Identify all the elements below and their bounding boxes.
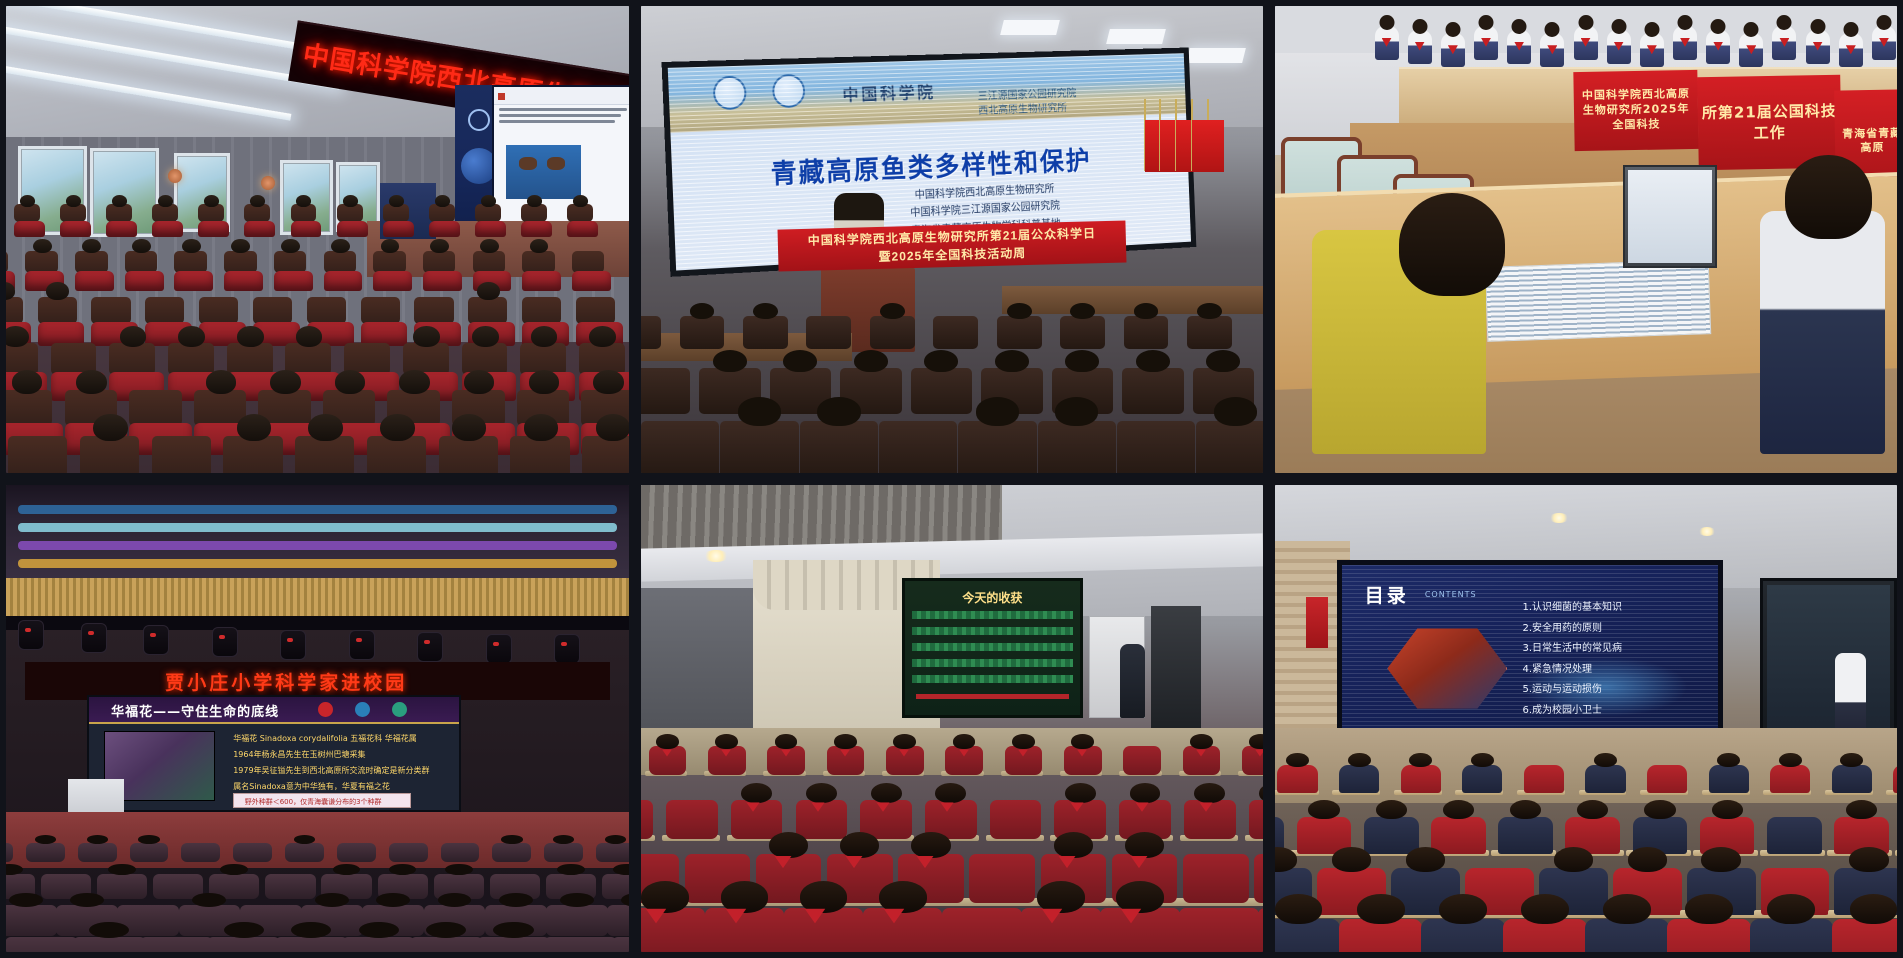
audience-head bbox=[1717, 753, 1740, 767]
seat-back bbox=[1179, 908, 1259, 952]
seat-back bbox=[73, 937, 146, 952]
seat-cushion bbox=[291, 221, 322, 237]
seat-back bbox=[6, 251, 8, 274]
stage-light bbox=[554, 634, 580, 664]
seat-back bbox=[337, 843, 376, 863]
audience-head bbox=[9, 893, 43, 907]
seat-back bbox=[641, 421, 719, 473]
seat-back bbox=[389, 843, 428, 863]
seat-cushion bbox=[423, 271, 462, 291]
audience-head bbox=[1685, 894, 1733, 924]
student-figure bbox=[1640, 33, 1664, 67]
seat-back bbox=[233, 843, 272, 863]
projected-slide: 华福花——守住生命的底线 华福花 Sinadoxa corydalifolia … bbox=[87, 695, 461, 812]
photo-1-auditorium: 中国科学院西北高原生物研究所2025年全国科技活动周和全 bbox=[6, 6, 629, 473]
audience-head bbox=[531, 326, 558, 347]
audience-head bbox=[713, 350, 747, 373]
seat-back bbox=[152, 436, 211, 473]
audience-head bbox=[76, 370, 107, 394]
slide-title: 华福花——守住生命的底线 bbox=[111, 701, 279, 720]
audience-head bbox=[753, 303, 778, 319]
seat-back bbox=[546, 905, 608, 936]
student-figure bbox=[1462, 765, 1502, 792]
seat-back bbox=[106, 204, 132, 222]
seat-back bbox=[342, 937, 415, 952]
seat-cushion bbox=[224, 271, 263, 291]
audience-head bbox=[501, 835, 522, 844]
audience-head bbox=[1554, 847, 1593, 872]
ceiling-spotlight bbox=[1698, 527, 1716, 536]
student-figure bbox=[1585, 919, 1668, 952]
toc-item: 5.运动与运动损伤 bbox=[1522, 680, 1622, 701]
seat-back bbox=[1187, 316, 1232, 349]
photo-cell-3: 中国科学院西北高原生物研究所2025年全国科技 所第21届公国科技工作 青海省青… bbox=[1269, 0, 1903, 479]
audience-head bbox=[1007, 303, 1032, 319]
audience-head bbox=[1125, 832, 1164, 858]
student-figure bbox=[1872, 26, 1896, 60]
audience-head bbox=[995, 350, 1029, 373]
audience-head bbox=[430, 239, 449, 254]
seat-back bbox=[198, 204, 224, 222]
seat-back bbox=[990, 800, 1042, 839]
audience-head bbox=[1840, 753, 1863, 767]
seat-back bbox=[285, 843, 324, 863]
slide-specimen-image bbox=[506, 145, 582, 199]
audience-head bbox=[1071, 734, 1094, 749]
seat-back bbox=[181, 843, 220, 863]
audience-head bbox=[480, 239, 499, 254]
audience-head bbox=[1577, 800, 1608, 820]
toc-item: 6.成为校园小卫士 bbox=[1522, 701, 1622, 722]
audience-head bbox=[70, 893, 104, 907]
student-figure bbox=[1839, 33, 1863, 67]
slide-bullet: 属名Sinadoxa意为中华独有，华夏有福之花 bbox=[233, 781, 390, 792]
photo-cell-4: 贾小庄小学科学家进校园 华福花——守住生命的底线 华福花 Sinadoxa co… bbox=[0, 479, 635, 958]
audience-head bbox=[573, 195, 588, 207]
seat-back bbox=[1183, 854, 1249, 903]
audience-head bbox=[806, 783, 837, 803]
audience-head bbox=[1214, 397, 1258, 426]
stage-light bbox=[81, 623, 107, 653]
audience-head bbox=[1850, 894, 1897, 924]
audience-head bbox=[834, 734, 857, 749]
student-figure bbox=[1767, 817, 1822, 854]
gold-ceiling-trim bbox=[6, 578, 629, 620]
audience-head bbox=[953, 734, 976, 749]
audience-head bbox=[1712, 800, 1743, 820]
seat-back bbox=[596, 843, 629, 863]
seat-cushion bbox=[572, 271, 611, 291]
student-figure bbox=[1431, 817, 1486, 854]
audience-head bbox=[220, 864, 248, 875]
seat-back bbox=[97, 874, 147, 899]
seat-back bbox=[423, 251, 456, 274]
photo-cell-1: 中国科学院西北高原生物研究所2025年全国科技活动周和全 bbox=[0, 0, 635, 479]
seat-back bbox=[1258, 908, 1263, 952]
seat-back bbox=[510, 436, 569, 473]
seat-back bbox=[641, 800, 653, 839]
toc-item: 4.紧急情况处理 bbox=[1522, 660, 1622, 681]
audience-head bbox=[1603, 894, 1651, 924]
audience-head bbox=[1406, 847, 1445, 872]
seat-back bbox=[544, 843, 583, 863]
student-head bbox=[1785, 155, 1872, 239]
audience-head bbox=[879, 881, 927, 913]
audience-head bbox=[112, 195, 127, 207]
audience-head bbox=[1134, 303, 1159, 319]
audience-head bbox=[738, 397, 782, 426]
seat-back bbox=[441, 843, 480, 863]
seat-back bbox=[91, 297, 130, 324]
audience-head bbox=[1767, 894, 1815, 924]
student-figure bbox=[1498, 817, 1553, 854]
audience-head bbox=[477, 282, 500, 300]
seat-back bbox=[1196, 421, 1263, 473]
audience-head bbox=[775, 734, 798, 749]
audience-head bbox=[1054, 832, 1093, 858]
seat-back bbox=[1122, 368, 1184, 413]
audience-head bbox=[596, 414, 629, 441]
audience-head bbox=[335, 370, 366, 394]
seat-back bbox=[1123, 746, 1161, 774]
seat-back bbox=[477, 937, 550, 952]
student-figure bbox=[1832, 765, 1872, 792]
seat-cushion bbox=[361, 322, 408, 346]
audience-head bbox=[553, 835, 574, 844]
seat-back bbox=[223, 436, 282, 473]
audience-head bbox=[1070, 303, 1095, 319]
seat-back bbox=[572, 251, 605, 274]
audience-head bbox=[204, 195, 219, 207]
seat-back bbox=[1249, 800, 1263, 839]
seat-back bbox=[60, 204, 86, 222]
seat-back bbox=[361, 297, 400, 324]
student-figure bbox=[1408, 30, 1432, 64]
student-figure bbox=[1441, 33, 1465, 67]
student-figure bbox=[1574, 26, 1598, 60]
student-figure bbox=[1832, 919, 1897, 952]
seat-cushion bbox=[60, 221, 91, 237]
seat-back bbox=[879, 421, 957, 473]
seat-back bbox=[253, 297, 292, 324]
seat-back bbox=[307, 297, 346, 324]
seat-back bbox=[38, 297, 77, 324]
audience-head bbox=[33, 239, 52, 254]
student-figure bbox=[1585, 765, 1625, 792]
audience-head bbox=[1206, 350, 1240, 373]
seat-back bbox=[475, 204, 501, 222]
audience-head bbox=[237, 326, 264, 347]
audience-head bbox=[1376, 800, 1407, 820]
student-figure bbox=[1339, 919, 1422, 952]
photo-3-desk: 中国科学院西北高原生物研究所2025年全国科技 所第21届公国科技工作 青海省青… bbox=[1275, 6, 1897, 473]
seat-back bbox=[1021, 908, 1101, 952]
seat-back bbox=[168, 343, 214, 375]
audience-head bbox=[871, 783, 902, 803]
student-figure bbox=[1647, 765, 1687, 792]
stage-light bbox=[212, 627, 238, 657]
seat-back bbox=[666, 800, 718, 839]
student-figure bbox=[1667, 919, 1750, 952]
teacher-person bbox=[1120, 644, 1145, 719]
audience-head bbox=[721, 881, 769, 913]
seat-back bbox=[244, 204, 270, 222]
institute-seal-icon bbox=[712, 76, 747, 111]
photo-cell-5: 今天的收获 bbox=[635, 479, 1269, 958]
red-wall-poster bbox=[1306, 597, 1328, 648]
audience-head bbox=[1332, 847, 1371, 872]
student-figure bbox=[1770, 765, 1810, 792]
seat-back bbox=[1100, 908, 1180, 952]
seat-cushion bbox=[324, 271, 363, 291]
student-figure bbox=[1673, 26, 1697, 60]
audience-seating bbox=[641, 742, 1263, 952]
seat-back bbox=[414, 297, 453, 324]
audience-head bbox=[435, 195, 450, 207]
student-figure bbox=[1474, 26, 1498, 60]
audience-head bbox=[1779, 753, 1802, 767]
audience-head bbox=[381, 239, 400, 254]
student-person-right bbox=[1760, 211, 1884, 454]
seat-back bbox=[80, 436, 139, 473]
seat-back bbox=[429, 204, 455, 222]
audience-head bbox=[1012, 734, 1035, 749]
laptop[interactable] bbox=[1623, 165, 1716, 268]
seat-back bbox=[25, 251, 58, 274]
audience-head bbox=[12, 370, 43, 394]
laptop-screen bbox=[1628, 170, 1711, 263]
seat-back bbox=[806, 316, 851, 349]
ceiling-panel-light bbox=[1186, 48, 1246, 63]
seat-back bbox=[383, 204, 409, 222]
slide-hexagon-graphic bbox=[1387, 625, 1507, 712]
slide-bullet: 1979年吴征镒先生到西北高原所交流时确定是新分类群 bbox=[233, 765, 429, 776]
audience-head bbox=[690, 303, 715, 319]
led-banner-text: 贾小庄小学科学家进校园 bbox=[165, 668, 407, 695]
audience-head bbox=[66, 195, 81, 207]
student-figure bbox=[1339, 765, 1379, 792]
audience-head bbox=[817, 397, 861, 426]
toc-item: 1.认识细菌的基本知识 bbox=[1522, 598, 1622, 619]
audience-head bbox=[93, 414, 127, 441]
stage-light bbox=[280, 630, 306, 660]
seat-back bbox=[1060, 316, 1105, 349]
audience-head bbox=[380, 414, 414, 441]
slide-bullet: 华福花 Sinadoxa corydalifolia 五福花科 华福花属 bbox=[233, 733, 417, 744]
photo-2-lecture: 中国科学院 三江源国家公园研究院 西北高原生物研究所 青藏高原鱼类多样性和保护 … bbox=[641, 6, 1263, 473]
student-figure bbox=[1421, 919, 1504, 952]
audience-head bbox=[315, 893, 349, 907]
photo-5-classroom: 今天的收获 bbox=[641, 485, 1263, 952]
seat-back bbox=[784, 908, 864, 952]
photo-4-theater: 贾小庄小学科学家进校园 华福花——守住生命的底线 华福花 Sinadoxa co… bbox=[6, 485, 629, 952]
audience-head bbox=[1037, 881, 1085, 913]
stage-light bbox=[18, 620, 44, 650]
audience-head bbox=[1849, 847, 1888, 872]
seat-back bbox=[863, 908, 943, 952]
seat-back bbox=[942, 908, 1022, 952]
student-figure bbox=[1375, 26, 1399, 60]
seat-back bbox=[373, 251, 406, 274]
flag-row bbox=[1139, 99, 1226, 230]
seat-back bbox=[521, 204, 547, 222]
student-figure bbox=[1503, 919, 1586, 952]
seat-back bbox=[544, 937, 617, 952]
seat-cushion bbox=[337, 221, 368, 237]
audience-head bbox=[935, 783, 966, 803]
audience-head bbox=[206, 370, 237, 394]
seat-back bbox=[26, 843, 65, 863]
slide-title: 目录 bbox=[1365, 581, 1409, 608]
seat-cushion bbox=[567, 221, 598, 237]
seat-back bbox=[199, 297, 238, 324]
seat-cushion bbox=[244, 221, 275, 237]
seat-back bbox=[439, 436, 498, 473]
seat-back bbox=[109, 343, 155, 375]
audience-head bbox=[911, 832, 950, 858]
seat-back bbox=[641, 368, 690, 413]
side-display bbox=[1760, 578, 1897, 746]
audience-head bbox=[1065, 783, 1096, 803]
seat-back bbox=[641, 316, 661, 349]
audience-seating bbox=[6, 193, 629, 473]
red-banner-line-2: 暨2025年全国科技活动周 bbox=[878, 245, 1026, 267]
seat-cushion bbox=[198, 221, 229, 237]
audience-head bbox=[296, 326, 323, 347]
audience-head bbox=[294, 835, 315, 844]
audience-head bbox=[6, 326, 29, 347]
seat-cushion bbox=[522, 271, 561, 291]
audience-head bbox=[452, 414, 486, 441]
audience-head bbox=[296, 195, 311, 207]
seat-back bbox=[140, 937, 213, 952]
audience-head bbox=[976, 397, 1020, 426]
audience-head bbox=[108, 864, 136, 875]
slide-bullet: 1964年杨永昌先生在玉树州巴塘采集 bbox=[233, 749, 365, 760]
event-logo-icon bbox=[318, 702, 333, 717]
presentation-screen: 目录 CONTENTS 1.认识细菌的基本知识 2.安全用药的原则 3.日常生活… bbox=[1337, 560, 1723, 737]
photo-collage: 中国科学院西北高原生物研究所2025年全国科技活动周和全 bbox=[0, 0, 1903, 958]
seat-back bbox=[911, 368, 973, 413]
student-figure bbox=[1401, 765, 1441, 792]
seat-back bbox=[680, 316, 725, 349]
seat-back bbox=[6, 843, 13, 863]
partner-logo-icon bbox=[392, 702, 407, 717]
audience-head bbox=[1443, 800, 1474, 820]
stage-light bbox=[143, 625, 169, 655]
seat-back bbox=[174, 251, 207, 274]
student-figure bbox=[1806, 30, 1830, 64]
seat-back bbox=[473, 251, 506, 274]
audience-head bbox=[1308, 800, 1339, 820]
student-figure bbox=[1750, 919, 1833, 952]
audience-head bbox=[438, 893, 472, 907]
seat-back bbox=[6, 390, 52, 426]
loudspeaker bbox=[1151, 606, 1201, 727]
institute-logo-icon bbox=[468, 109, 490, 131]
stage-light bbox=[486, 634, 512, 664]
seat-back bbox=[275, 937, 348, 952]
audience-head bbox=[1521, 894, 1569, 924]
student-figure bbox=[1507, 30, 1531, 64]
seat-cushion bbox=[475, 221, 506, 237]
audience-head bbox=[880, 303, 905, 319]
audience-seating bbox=[6, 840, 629, 952]
seat-back bbox=[720, 421, 798, 473]
seat-back bbox=[1117, 421, 1195, 473]
staff-head bbox=[1399, 193, 1505, 296]
seat-back bbox=[522, 251, 555, 274]
audience-head bbox=[270, 370, 301, 394]
seat-back bbox=[125, 251, 158, 274]
seat-back bbox=[582, 436, 629, 473]
seat-back bbox=[265, 874, 315, 899]
seat-cushion bbox=[373, 271, 412, 291]
audience-head bbox=[527, 195, 542, 207]
audience-head bbox=[641, 881, 689, 913]
seat-cushion bbox=[521, 221, 552, 237]
audience-head bbox=[1409, 753, 1432, 767]
student-figure bbox=[1772, 26, 1796, 60]
audience-head bbox=[529, 370, 560, 394]
student-figure bbox=[1739, 33, 1763, 67]
seat-back bbox=[969, 854, 1035, 903]
audience-head bbox=[472, 326, 499, 347]
audience-head bbox=[1190, 734, 1213, 749]
student-figure bbox=[1893, 765, 1897, 792]
audience-head bbox=[1510, 800, 1541, 820]
seat-back bbox=[14, 204, 40, 222]
student-figure bbox=[1706, 30, 1730, 64]
audience-head bbox=[445, 864, 473, 875]
audience-head bbox=[1194, 783, 1225, 803]
audience-head bbox=[524, 414, 558, 441]
seat-back bbox=[145, 297, 184, 324]
audience-head bbox=[769, 832, 808, 858]
audience-head bbox=[589, 326, 616, 347]
audience-head bbox=[120, 326, 147, 347]
slide-note-text: 野外种群＜600，仅青海囊谦分布的3个种群 bbox=[245, 797, 382, 807]
audience-head bbox=[192, 893, 226, 907]
seat-back bbox=[1254, 854, 1263, 903]
institute-logo-icon bbox=[355, 702, 370, 717]
seat-back bbox=[468, 297, 507, 324]
audience-head bbox=[87, 835, 108, 844]
booklet-stack bbox=[1485, 259, 1711, 341]
audience-head bbox=[605, 835, 626, 844]
student-figure bbox=[1540, 33, 1564, 67]
seat-back bbox=[800, 421, 878, 473]
student-figure bbox=[1275, 919, 1340, 952]
seat-back bbox=[152, 204, 178, 222]
audience-head bbox=[1249, 734, 1263, 749]
student-figure bbox=[1277, 765, 1317, 792]
audience-head bbox=[237, 414, 271, 441]
seat-cushion bbox=[152, 221, 183, 237]
photo-cell-6: 目录 CONTENTS 1.认识细菌的基本知识 2.安全用药的原则 3.日常生活… bbox=[1269, 479, 1903, 958]
seat-back bbox=[1124, 316, 1169, 349]
audience-seating bbox=[1275, 765, 1897, 952]
seat-cushion bbox=[429, 221, 460, 237]
audience-head bbox=[1136, 350, 1170, 373]
slide-top-banner: 中国科学院 三江源国家公园研究院 西北高原生物研究所 bbox=[668, 53, 1187, 132]
audience-head bbox=[741, 783, 772, 803]
audience-head bbox=[1130, 783, 1161, 803]
audience-head bbox=[1846, 800, 1877, 820]
seat-back bbox=[522, 297, 561, 324]
audience-head bbox=[557, 864, 585, 875]
seat-cushion bbox=[106, 221, 137, 237]
